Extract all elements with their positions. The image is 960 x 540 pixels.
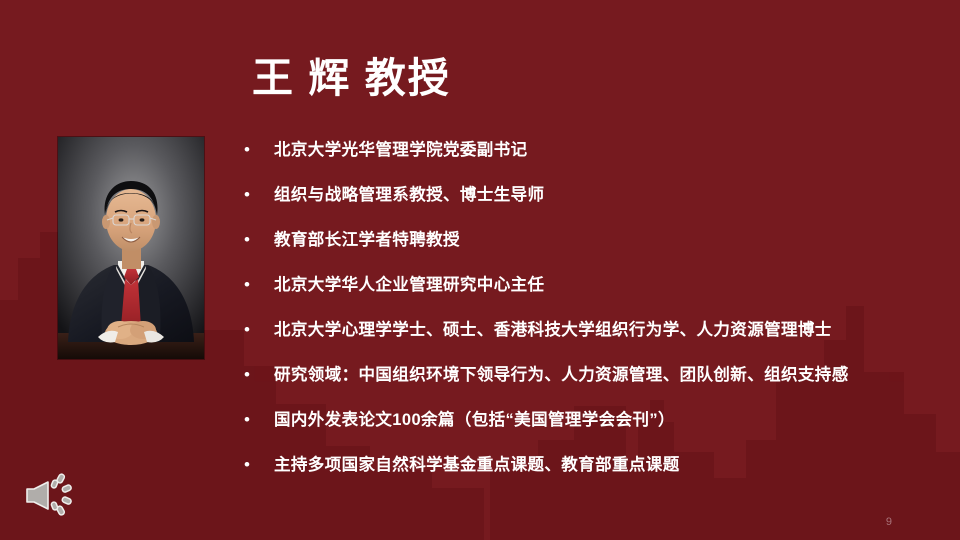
list-item: • 北京大学光华管理学院党委副书记 (240, 137, 945, 182)
bullet-marker-icon: • (240, 317, 274, 343)
page-title: 王 辉 教授 (252, 55, 451, 102)
portrait-photo-image (58, 137, 204, 359)
list-item: • 北京大学华人企业管理研究中心主任 (240, 272, 945, 317)
list-item-label: 研究领域：中国组织环境下领导行为、人力资源管理、团队创新、组织支持感 (274, 362, 945, 388)
list-item-label: 北京大学华人企业管理研究中心主任 (274, 272, 945, 298)
slide: 王 辉 教授 • 北京大学光华管理学院党委副书记 • 组织与战略管理系教授、博士… (0, 0, 960, 540)
list-item-label: 组织与战略管理系教授、博士生导师 (274, 182, 945, 208)
bullet-marker-icon: • (240, 362, 274, 388)
bullet-marker-icon: • (240, 407, 274, 433)
bullet-marker-icon: • (240, 272, 274, 298)
list-item: • 北京大学心理学学士、硕士、香港科技大学组织行为学、人力资源管理博士 (240, 317, 945, 362)
list-item-label: 北京大学光华管理学院党委副书记 (274, 137, 945, 163)
list-item-label: 北京大学心理学学士、硕士、香港科技大学组织行为学、人力资源管理博士 (274, 317, 945, 343)
bullet-marker-icon: • (240, 227, 274, 253)
bullet-marker-icon: • (240, 137, 274, 163)
list-item: • 国内外发表论文100余篇（包括“美国管理学会会刊”） (240, 407, 945, 452)
list-item: • 主持多项国家自然科学基金重点课题、教育部重点课题 (240, 452, 945, 497)
speaker-icon-glyph (22, 466, 88, 524)
list-item: • 研究领域：中国组织环境下领导行为、人力资源管理、团队创新、组织支持感 (240, 362, 945, 407)
portrait-photo (58, 137, 204, 359)
speaker-icon[interactable] (22, 466, 88, 524)
list-item: • 组织与战略管理系教授、博士生导师 (240, 182, 945, 227)
bullet-marker-icon: • (240, 452, 274, 478)
bullet-marker-icon: • (240, 182, 274, 208)
list-item-label: 国内外发表论文100余篇（包括“美国管理学会会刊”） (274, 407, 945, 433)
page-number: 9 (886, 516, 892, 528)
bullet-list: • 北京大学光华管理学院党委副书记 • 组织与战略管理系教授、博士生导师 • 教… (240, 137, 945, 497)
list-item-label: 主持多项国家自然科学基金重点课题、教育部重点课题 (274, 452, 945, 478)
list-item-label: 教育部长江学者特聘教授 (274, 227, 945, 253)
list-item: • 教育部长江学者特聘教授 (240, 227, 945, 272)
